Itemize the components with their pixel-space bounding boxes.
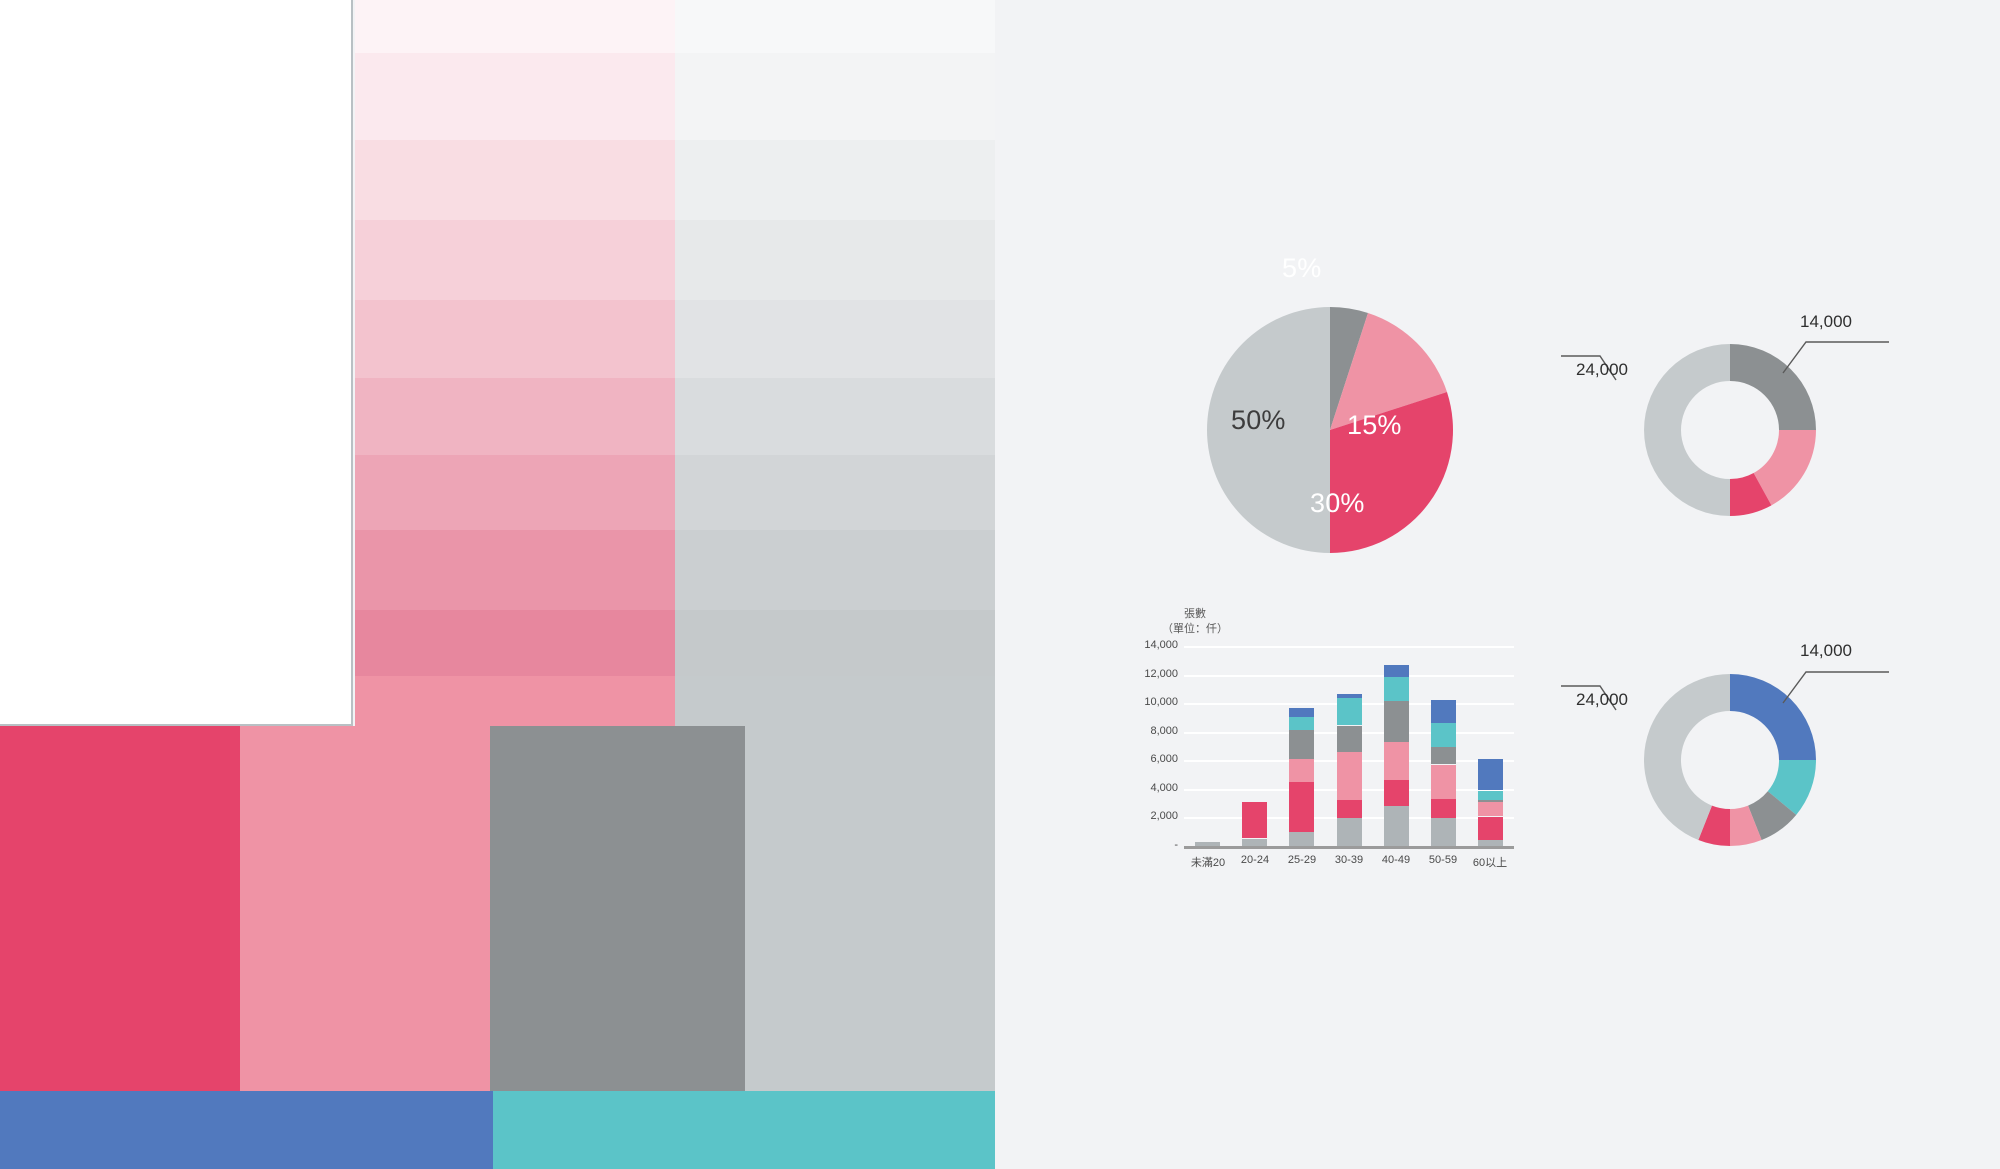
bar-segment	[1478, 791, 1503, 800]
bar-y-tick-label: 12,000	[1114, 668, 1178, 680]
rose-block	[240, 726, 490, 1091]
gray-top-extension	[675, 676, 995, 726]
bar-segment	[1478, 802, 1503, 816]
tint-swatch	[355, 220, 675, 300]
screenshot-root: 5% 15% 30% 50% 14,000 24,000 14,000 24,0…	[0, 0, 2000, 1169]
tint-swatch	[355, 53, 675, 140]
bar-segment	[1242, 802, 1267, 838]
crimson-block	[0, 726, 240, 1091]
bar-segment	[1289, 717, 1314, 730]
bar-gridline	[1184, 646, 1514, 648]
bar-segment	[1289, 759, 1314, 782]
bar-segment	[1289, 782, 1314, 832]
bar-gridline	[1184, 675, 1514, 677]
color-palette-panel	[0, 0, 995, 1169]
bar-segment	[1384, 677, 1409, 701]
gray-block	[490, 726, 745, 1091]
tint-swatch	[355, 455, 675, 530]
tint-swatch	[675, 220, 995, 300]
bar-x-tick-label: 60以上	[1460, 854, 1520, 870]
bar-segment	[1431, 723, 1456, 747]
tint-swatch	[675, 53, 995, 140]
tint-swatch	[675, 378, 995, 455]
tint-swatch	[355, 140, 675, 220]
tint-swatch	[675, 530, 995, 610]
blue-block	[0, 1091, 493, 1169]
tint-swatch	[355, 0, 675, 53]
teal-block	[493, 1091, 995, 1169]
donut2-callout-left: 24,000	[1576, 690, 1628, 710]
tint-swatch	[355, 378, 675, 455]
bar-y-tick-label: 8,000	[1114, 725, 1178, 737]
bar-segment	[1337, 694, 1362, 698]
bar-segment	[1478, 759, 1503, 790]
bar-segment	[1337, 800, 1362, 818]
bar-y-tick-label: 10,000	[1114, 696, 1178, 708]
bar-segment	[1242, 839, 1267, 846]
bar-segment	[1384, 742, 1409, 780]
donut2-callout-top: 14,000	[1800, 641, 1852, 661]
bar-segment	[1478, 817, 1503, 840]
bar-segment	[1384, 665, 1409, 677]
bar-segment	[1337, 752, 1362, 800]
share-pie-svg	[1205, 305, 1455, 555]
bar-segment	[1289, 832, 1314, 846]
bar-segment	[1431, 747, 1456, 764]
donut1-callout-left: 24,000	[1576, 360, 1628, 380]
bar-y-tick-label: 14,000	[1114, 639, 1178, 651]
tint-swatch	[355, 300, 675, 378]
bar-segment	[1431, 765, 1456, 799]
bar-segment	[1289, 708, 1314, 717]
bar-segment	[1337, 818, 1362, 846]
bar-segment	[1431, 799, 1456, 818]
tint-swatch	[675, 0, 995, 53]
bar-y-tick-label: 4,000	[1114, 782, 1178, 794]
share-pie-chart	[1205, 305, 1455, 555]
rose-top-extension	[355, 676, 675, 726]
tint-swatch	[675, 300, 995, 378]
bar-segment	[1289, 730, 1314, 759]
bar-segment	[1384, 701, 1409, 742]
bar-segment	[1337, 726, 1362, 752]
donut1-callout-top: 14,000	[1800, 312, 1852, 332]
bar-x-axis-line	[1184, 846, 1514, 849]
bar-y-tick-label: 2,000	[1114, 810, 1178, 822]
bar-segment	[1195, 842, 1220, 846]
tint-swatch	[675, 140, 995, 220]
bar-segment	[1431, 818, 1456, 846]
bar-segment	[1478, 840, 1503, 846]
bar-segment	[1337, 698, 1362, 725]
bar-segment	[1384, 780, 1409, 806]
bar-y-tick-label: 6,000	[1114, 753, 1178, 765]
bar-segment	[1384, 806, 1409, 846]
bar-y-axis-title-line1: 張數	[1184, 608, 1206, 622]
tint-swatch	[355, 530, 675, 610]
bar-y-tick-label: -	[1114, 839, 1178, 851]
tint-swatch	[675, 455, 995, 530]
age-stacked-bar-chart: 張數 （單位：仟） -2,0004,0006,0008,00010,00012,…	[1108, 608, 1528, 873]
bar-y-axis-title-line2: （單位：仟）	[1162, 623, 1228, 637]
share-pie-slice	[1207, 307, 1330, 553]
visualization-panel	[995, 0, 2000, 1169]
white-overlay-card	[0, 0, 353, 726]
light-gray-block	[745, 726, 995, 1091]
bar-segment	[1431, 700, 1456, 723]
